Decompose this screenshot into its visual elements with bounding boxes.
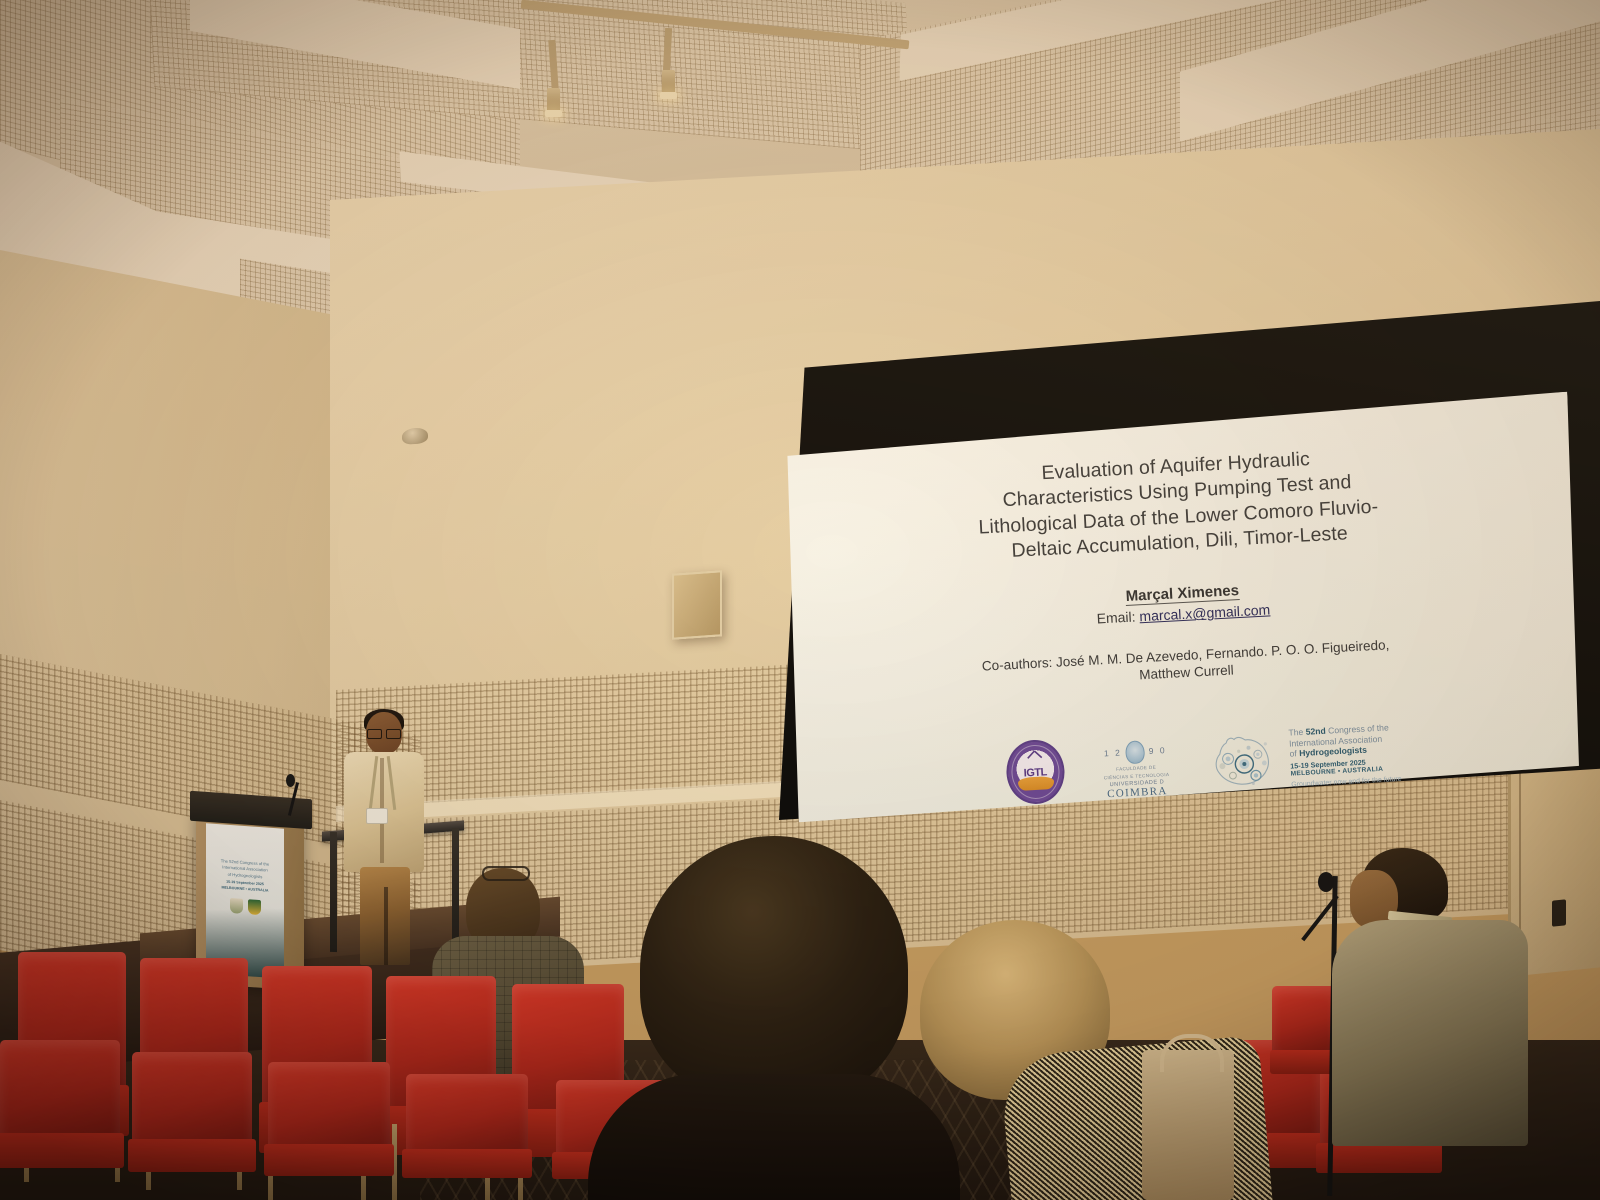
coimbra-logo: 1 2 9 0 FACULDADE DE CIÊNCIAS E TECNOLOG…	[1089, 738, 1184, 801]
slide-coauthors: Co-authors: José M. M. De Azevedo, Ferna…	[791, 628, 1582, 703]
chair[interactable]	[0, 1040, 120, 1200]
presentation-slide: Evaluation of Aquifer Hydraulic Characte…	[778, 386, 1588, 827]
email-link[interactable]: marcal.x@gmail.com	[1139, 602, 1271, 625]
sponsor-shield-icon	[248, 899, 261, 915]
coimbra-seal-icon	[1125, 740, 1145, 764]
sponsor-shield-icon	[230, 898, 243, 914]
audience-shoulders	[588, 1074, 960, 1200]
igtl-logo: IGTL	[1005, 738, 1066, 805]
lectern-banner: The 52nd Congress of the International A…	[206, 823, 284, 978]
glasses-on-head-icon	[482, 866, 530, 881]
tote-bag	[1142, 1050, 1234, 1200]
lectern-microphone-icon	[286, 774, 295, 787]
sponsor-shields	[206, 896, 284, 916]
slide-logo-row: IGTL 1 2 9 0 FACULDADE DE CIÊNCIAS E TEC…	[795, 711, 1587, 816]
conference-photo-scene: Evaluation of Aquifer Hydraulic Characte…	[0, 0, 1600, 1200]
chair[interactable]	[1272, 986, 1336, 1096]
chair[interactable]	[268, 1062, 390, 1200]
iah-congress-logo: The 52nd Congress of the International A…	[1206, 722, 1402, 795]
microphone-icon	[1318, 872, 1334, 892]
chair[interactable]	[406, 1074, 528, 1200]
audience-member-right	[1336, 848, 1566, 1200]
chair[interactable]	[132, 1052, 252, 1200]
presenter	[338, 712, 430, 962]
australia-map-icon	[1206, 729, 1283, 795]
audience-member-front-dark	[612, 836, 932, 1200]
audience-shirt	[1332, 920, 1528, 1146]
wall-speaker	[672, 570, 722, 639]
audience-head	[640, 836, 908, 1104]
projection-screen: Evaluation of Aquifer Hydraulic Characte…	[762, 300, 1600, 820]
slide-title: Evaluation of Aquifer Hydraulic Characte…	[781, 434, 1575, 577]
pickaxe-icon	[1026, 750, 1042, 760]
table-leg	[330, 832, 337, 952]
presenter-badge	[366, 808, 388, 824]
glasses-icon	[367, 729, 401, 737]
